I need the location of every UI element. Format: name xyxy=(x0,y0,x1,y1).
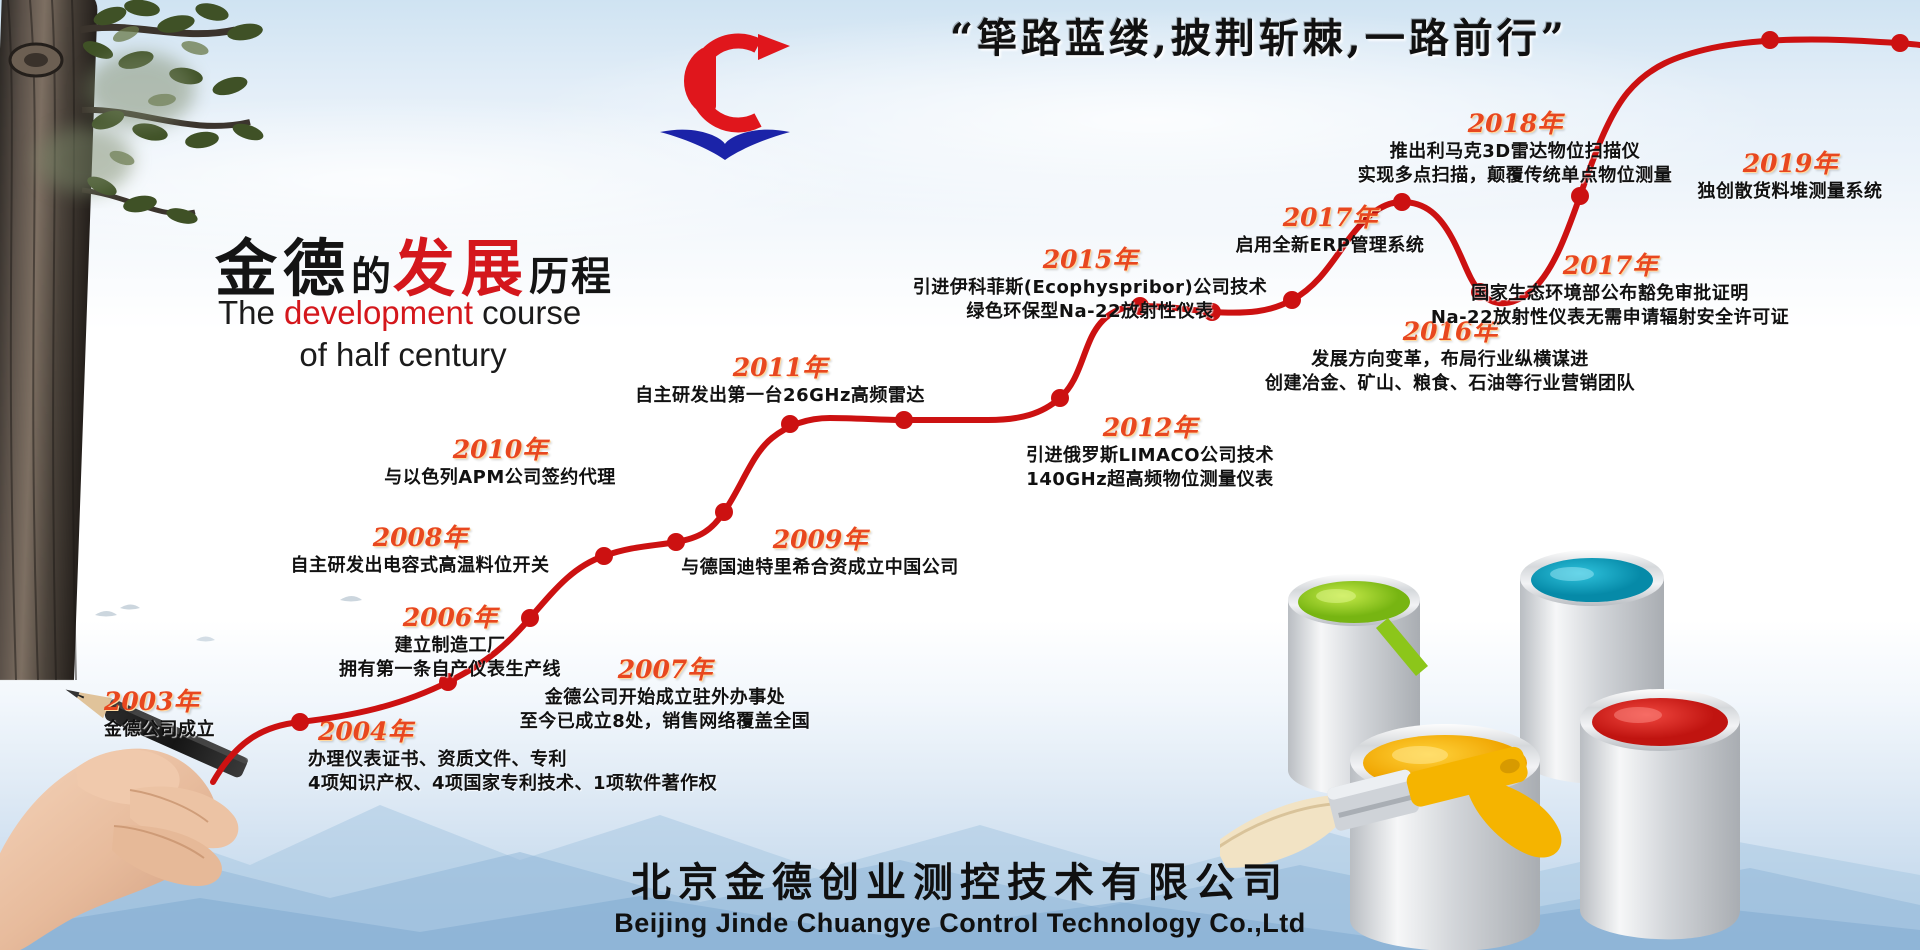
milestone-2007: 2007年 金德公司开始成立驻外办事处 至今已成立8处，销售网络覆盖全国 xyxy=(500,650,830,735)
milestone-line: 与以色列APM公司签约代理 xyxy=(350,466,650,490)
milestone-2019: 2019年 独创散货料堆测量系统 xyxy=(1660,144,1920,204)
milestone-line: 140GHz超高频物位测量仪表 xyxy=(1000,468,1300,492)
milestone-line: 国家生态环境部公布豁免审批证明 xyxy=(1400,282,1820,306)
milestone-year: 2008年 xyxy=(270,518,570,554)
milestone-line: 创建冶金、矿山、粮食、石油等行业营销团队 xyxy=(1240,372,1660,396)
milestone-line: 与德国迪特里希合资成立中国公司 xyxy=(650,556,990,580)
milestone-line: Na-22放射性仪表无需申请辐射安全许可证 xyxy=(1400,306,1820,330)
milestone-year: 2011年 xyxy=(620,348,940,384)
milestone-2009: 2009年 与德国迪特里希合资成立中国公司 xyxy=(650,520,990,580)
company-name-en: Beijing Jinde Chuangye Control Technolog… xyxy=(0,908,1920,939)
milestone-2011: 2011年 自主研发出第一台26GHz高频雷达 xyxy=(620,348,940,408)
milestone-year: 2012年 xyxy=(1000,408,1300,444)
milestone-line: 金德公司开始成立驻外办事处 xyxy=(500,686,830,710)
milestone-year: 2007年 xyxy=(500,650,830,686)
milestone-line: 推出利马克3D雷达物位扫描仪 xyxy=(1330,140,1700,164)
milestone-year: 2006年 xyxy=(300,598,600,634)
milestone-2017-certificate: 2017年 国家生态环境部公布豁免审批证明 Na-22放射性仪表无需申请辐射安全… xyxy=(1400,246,1820,331)
poster-stage: “筚路蓝缕,披荆斩棘,一路前行” 金德的发展历程 The development… xyxy=(0,0,1920,950)
milestone-2008: 2008年 自主研发出电容式高温料位开关 xyxy=(270,518,570,578)
milestone-year: 2003年 xyxy=(104,682,215,718)
milestone-year: 2010年 xyxy=(350,430,650,466)
milestone-line: 自主研发出电容式高温料位开关 xyxy=(270,554,570,578)
milestone-2018: 2018年 推出利马克3D雷达物位扫描仪 实现多点扫描，颠覆传统单点物位测量 xyxy=(1330,104,1700,189)
milestone-year: 2017年 xyxy=(1180,198,1480,234)
milestone-line: 绿色环保型Na-22放射性仪表 xyxy=(910,300,1270,324)
milestone-line: 独创散货料堆测量系统 xyxy=(1660,180,1920,204)
milestone-line: 引进伊科菲斯(Ecophyspribor)公司技术 xyxy=(910,276,1270,300)
milestone-2012: 2012年 引进俄罗斯LIMACO公司技术 140GHz超高频物位测量仪表 xyxy=(1000,408,1300,493)
milestone-2003: 2003年 金德公司成立 xyxy=(104,682,215,742)
milestone-line: 4项知识产权、4项国家专利技术、1项软件著作权 xyxy=(308,772,717,796)
milestone-year: 2018年 xyxy=(1330,104,1700,140)
milestone-line: 实现多点扫描，颠覆传统单点物位测量 xyxy=(1330,164,1700,188)
milestone-line: 引进俄罗斯LIMACO公司技术 xyxy=(1000,444,1300,468)
milestone-line: 发展方向变革，布局行业纵横谋进 xyxy=(1240,348,1660,372)
company-name-cn: 北京金德创业测控技术有限公司 xyxy=(0,862,1920,904)
milestone-line: 办理仪表证书、资质文件、专利 xyxy=(308,748,717,772)
milestone-line: 至今已成立8处，销售网络覆盖全国 xyxy=(500,710,830,734)
milestone-year: 2009年 xyxy=(650,520,990,556)
milestone-year: 2017年 xyxy=(1400,246,1820,282)
milestone-2010: 2010年 与以色列APM公司签约代理 xyxy=(350,430,650,490)
milestone-line: 金德公司成立 xyxy=(104,718,215,742)
milestone-year: 2019年 xyxy=(1660,144,1920,180)
footer-company: 北京金德创业测控技术有限公司 Beijing Jinde Chuangye Co… xyxy=(0,862,1920,939)
milestone-line: 自主研发出第一台26GHz高频雷达 xyxy=(620,384,940,408)
